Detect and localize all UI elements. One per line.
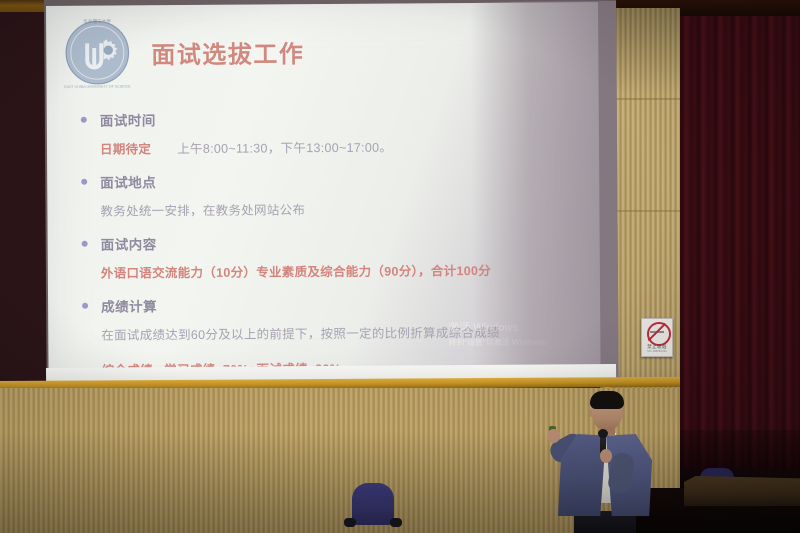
bullet-dot-icon bbox=[82, 241, 88, 247]
bullet-subline-highlight: 日期待定 bbox=[100, 142, 151, 156]
chair-armrest-right bbox=[390, 518, 402, 527]
bullet-subline: 在面试成绩达到60分及以上的前提下，按照一定的比例折算成综合成绩 bbox=[101, 321, 582, 343]
microphone-head bbox=[598, 429, 608, 438]
bullet-dot-icon bbox=[81, 179, 87, 185]
auditorium-chair bbox=[344, 483, 402, 533]
bullet-heading: 面试内容 bbox=[101, 233, 157, 253]
bullet-heading: 面试地点 bbox=[100, 171, 156, 191]
wood-panel-seam bbox=[612, 210, 680, 212]
bullet-dot-icon bbox=[82, 303, 88, 309]
university-seal-logo: 华东理工大学 EAST CHINA UNIVERSITY OF SCIENCE bbox=[58, 13, 137, 92]
bullet-heading: 成绩计算 bbox=[101, 295, 157, 315]
wood-panel-seam bbox=[612, 98, 680, 100]
presenter-right-hand bbox=[600, 449, 612, 463]
no-smoking-sign: 禁止吸烟 NO SMOKING bbox=[641, 318, 673, 357]
chair-backrest bbox=[352, 483, 394, 525]
prohibition-circle-icon bbox=[647, 322, 671, 346]
presentation-slide: 华东理工大学 EAST CHINA UNIVERSITY OF SCIENCE … bbox=[46, 2, 601, 378]
slide-bullet: 面试地点 bbox=[81, 168, 581, 191]
chair-armrest-left bbox=[344, 518, 356, 527]
no-smoking-label-en: NO SMOKING bbox=[642, 349, 672, 353]
presenter-hair bbox=[590, 391, 624, 409]
stage-curtain bbox=[678, 0, 800, 470]
slide-bullet: 面试内容 bbox=[82, 230, 582, 253]
bullet-dot-icon bbox=[81, 117, 87, 123]
slide-title: 面试选拔工作 bbox=[151, 34, 304, 70]
bullet-subline-text: 上午8:00~11:30，下午13:00~17:00。 bbox=[177, 141, 392, 157]
svg-text:EAST CHINA UNIVERSITY OF SCIEN: EAST CHINA UNIVERSITY OF SCIENCE bbox=[64, 85, 131, 89]
slide-bullet: 面试时间 bbox=[81, 106, 581, 129]
presenter bbox=[548, 393, 664, 533]
wooden-table bbox=[684, 476, 800, 506]
slide-bullet: 成绩计算 bbox=[82, 292, 582, 315]
presenter-left-hand bbox=[547, 429, 560, 443]
bullet-heading: 面试时间 bbox=[100, 109, 156, 129]
photo-scene: 华东理工大学 EAST CHINA UNIVERSITY OF SCIENCE … bbox=[0, 0, 800, 533]
